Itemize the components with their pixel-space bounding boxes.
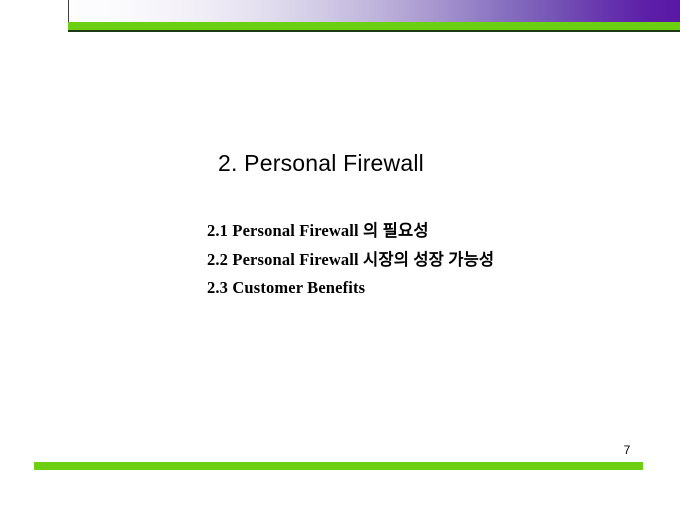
agenda-item-2-2: 2.2 Personal Firewall 시장의 성장 가능성 bbox=[207, 246, 494, 275]
header-green-accent-bar bbox=[68, 22, 680, 30]
agenda-item-2-1: 2.1 Personal Firewall 의 필요성 bbox=[207, 217, 494, 246]
slide-canvas: 2. Personal Firewall 2.1 Personal Firewa… bbox=[0, 0, 680, 510]
agenda-item-2-3: 2.3 Customer Benefits bbox=[207, 274, 494, 303]
slide-title: 2. Personal Firewall bbox=[218, 150, 424, 177]
footer-green-accent-bar bbox=[34, 462, 643, 470]
agenda-list: 2.1 Personal Firewall 의 필요성 2.2 Personal… bbox=[207, 217, 494, 303]
page-number: 7 bbox=[619, 443, 635, 457]
header-gradient-band bbox=[68, 0, 680, 22]
header-dark-green-rule bbox=[68, 30, 680, 32]
header-left-rule bbox=[68, 0, 69, 23]
